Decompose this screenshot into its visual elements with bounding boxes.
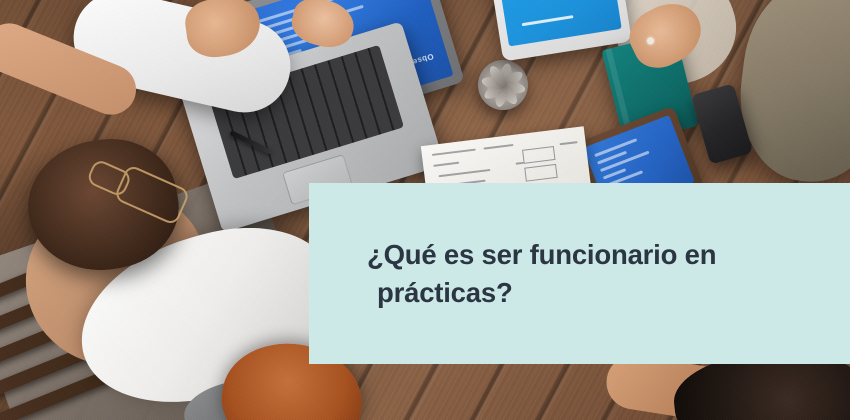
tablet-screen-bar — [522, 15, 574, 26]
white-tablet-screen: 85.00% — [497, 0, 621, 46]
title-overlay-panel: ¿Qué es ser funcionario en prácticas? — [309, 183, 850, 364]
banner-image: Observation outline 85.00% — [0, 0, 850, 420]
page-title: ¿Qué es ser funcionario en prácticas? — [309, 236, 850, 312]
